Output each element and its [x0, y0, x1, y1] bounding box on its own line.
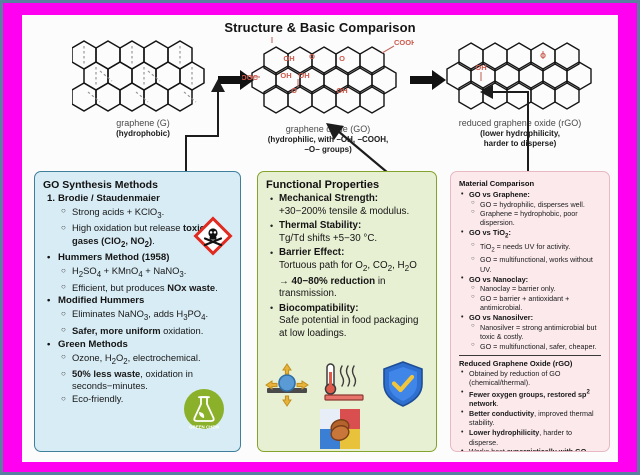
list-marker: ○	[471, 284, 475, 293]
rgo-section-heading: Reduced Graphene Oxide (rGO)	[459, 359, 601, 368]
sub-list: ○GO = hydrophilic, disperses well. ○Grap…	[469, 200, 601, 228]
sub-list: ○Nanosilver = strong antimicrobial but t…	[469, 323, 601, 351]
barrier-permeation-icon	[320, 409, 360, 449]
graphene-oxide-lattice-icon: OH O O OH OH O OH COOH HOOC	[242, 35, 414, 123]
list-marker: ○	[471, 322, 475, 331]
detail-text: Eco-friendly.	[72, 393, 123, 404]
detail-text: Graphene = hydrophobic, poor dispersion.	[480, 209, 578, 227]
list-marker: ○	[61, 265, 66, 277]
detail-text: Safer, more uniform oxidation.	[72, 325, 203, 336]
section-divider	[459, 355, 601, 356]
list-item: ○H2SO4 + KMnO4 + NaNO3.	[58, 265, 232, 281]
list-marker: •	[461, 274, 463, 284]
method-label: Hummers Method (1958)	[58, 252, 169, 263]
structure-reduced-graphene-oxide: OH O reduced graphene oxide (rGO) (lower…	[430, 37, 610, 149]
list-marker: •	[270, 193, 273, 206]
detail-text: Works best synergistically with GO.	[469, 447, 588, 452]
group-label-hooc: HOOC	[242, 73, 259, 82]
list-item: ○GO = multifunctional, safer, cheaper.	[469, 342, 601, 351]
structure-graphene: graphene (G) (hydrophobic)	[58, 37, 228, 139]
sub-list: ○TiO2 = needs UV for activity. ○GO = mul…	[469, 242, 601, 274]
list-marker: ○	[471, 341, 475, 350]
list-item-go-vs-tio2: • GO vs TiO2: ○TiO2 = needs UV for activ…	[459, 228, 601, 273]
group-label-oh: OH	[475, 63, 486, 72]
list-item: •Works best synergistically with GO.	[459, 447, 601, 452]
comparison-label: GO vs TiO2:	[469, 228, 511, 237]
list-item: ○Nanoclay = barrier only.	[469, 284, 601, 293]
green-chemistry-icon: GREEN CHEM	[182, 387, 226, 431]
detail-text: 50% less waste, oxidation in seconds−min…	[72, 368, 193, 391]
list-marker: ○	[61, 308, 66, 320]
structure-caption: reduced graphene oxide (rGO)	[430, 118, 610, 128]
list-marker: ○	[471, 241, 475, 250]
group-label-oh: OH	[280, 71, 291, 80]
list-item: ○Graphene = hydrophobic, poor dispersion…	[469, 209, 601, 228]
list-marker: •	[270, 302, 273, 315]
group-label-o: O	[309, 52, 315, 61]
connector-synthesis-vertical	[185, 135, 187, 171]
thermometer-heat-icon	[320, 360, 368, 408]
list-item: •Fewer oxygen groups, restored sp2 netwo…	[459, 388, 601, 408]
connector-properties-diagonal	[322, 123, 392, 175]
list-marker: •	[47, 252, 50, 264]
list-item-biocompatibility: • Biocompatibility: Safe potential in fo…	[266, 303, 428, 341]
list-marker: •	[270, 220, 273, 233]
group-label-oh: OH	[336, 86, 347, 95]
group-label-o: O	[339, 54, 345, 63]
properties-list: • Mechanical Strength: +30−200% tensile …	[266, 193, 428, 340]
list-item: •Obtained by reduction of GO (chemical/t…	[459, 369, 601, 388]
poster-canvas: Structure & Basic Comparison	[22, 15, 618, 462]
list-marker: ○	[471, 293, 475, 302]
connector-comparison-horizontal	[492, 91, 529, 93]
tensile-strength-icon	[264, 362, 310, 408]
list-marker: •	[461, 447, 463, 452]
comparison-label: GO vs Graphene:	[469, 190, 530, 199]
list-marker: •	[461, 368, 463, 377]
panel-heading: Material Comparison	[459, 179, 601, 188]
poster-frame: Structure & Basic Comparison	[3, 3, 637, 472]
list-marker: •	[270, 247, 273, 260]
list-item: •Lower hydrophilicity, harder to dispers…	[459, 428, 601, 447]
list-marker: ○	[471, 199, 475, 208]
detail-text: Nanosilver = strong antimicrobial but to…	[480, 323, 596, 341]
group-label-o: O	[540, 51, 546, 60]
list-item-go-vs-nanoclay: • GO vs Nanoclay: ○Nanoclay = barrier on…	[459, 275, 601, 312]
list-item: ○GO = barrier + antioxidant + antimicrob…	[469, 294, 601, 313]
list-item-hummers-method: • Hummers Method (1958) ○H2SO4 + KMnO4 +…	[43, 252, 232, 294]
property-label: Thermal Stability:	[279, 220, 361, 231]
property-detail: Tortuous path for O2, CO2, H2O → 40−80% …	[279, 260, 428, 301]
list-marker: •	[461, 313, 463, 323]
list-marker: ○	[61, 393, 66, 405]
list-item-mechanical-strength: • Mechanical Strength: +30−200% tensile …	[266, 193, 428, 218]
toxic-hazard-icon	[193, 216, 233, 256]
list-item-go-vs-nanosilver: • GO vs Nanosilver: ○Nanosilver = strong…	[459, 313, 601, 350]
comparison-list: • GO vs Graphene: ○GO = hydrophilic, dis…	[459, 190, 601, 351]
sub-list: ○H2SO4 + KMnO4 + NaNO3. ○Efficient, but …	[58, 265, 232, 294]
reduced-graphene-oxide-lattice-icon: OH O	[445, 37, 595, 117]
list-marker: ○	[61, 351, 66, 363]
panel-go-synthesis-methods[interactable]: GO Synthesis Methods 1. Brodie / Stauden…	[34, 171, 241, 452]
list-marker: •	[47, 295, 50, 307]
detail-text: Strong acids + KClO3.	[72, 206, 164, 217]
comparison-label: GO vs Nanosilver:	[469, 313, 533, 322]
property-detail: Safe potential in food packaging at low …	[279, 315, 428, 340]
property-label: Mechanical Strength:	[279, 193, 378, 204]
sub-list: ○Nanoclay = barrier only. ○GO = barrier …	[469, 284, 601, 312]
detail-text: Nanoclay = barrier only.	[480, 284, 556, 293]
list-item-barrier-effect: • Barrier Effect: Tortuous path for O2, …	[266, 247, 428, 300]
detail-text: TiO2 = needs UV for activity.	[480, 242, 570, 251]
group-label-cooh: COOH	[394, 38, 414, 47]
detail-text: Eliminates NaNO3, adds H3PO4.	[72, 308, 208, 319]
structure-subcaption: (lower hydrophilicity, harder to dispers…	[430, 129, 610, 149]
list-item: ○Ozone, H2O2, electrochemical.	[58, 352, 232, 368]
structure-subcaption: (hydrophobic)	[58, 129, 228, 139]
property-detail: +30−200% tensile & modulus.	[279, 206, 428, 219]
method-label: Modified Hummers	[58, 295, 144, 306]
detail-text: GO = hydrophilic, disperses well.	[480, 200, 585, 209]
detail-text: Better conductivity, improved thermal st…	[469, 409, 594, 427]
method-label: Green Methods	[58, 339, 128, 350]
list-marker: •	[461, 408, 463, 417]
list-marker: ○	[61, 222, 66, 234]
property-label: Barrier Effect:	[279, 247, 344, 258]
list-item-thermal-stability: • Thermal Stability: Tg/Td shifts +5−30 …	[266, 220, 428, 245]
list-item-modified-hummers: • Modified Hummers ○Eliminates NaNO3, ad…	[43, 295, 232, 337]
panel-functional-properties[interactable]: Functional Properties • Mechanical Stren…	[257, 171, 437, 452]
list-marker: ○	[61, 368, 66, 380]
detail-text: Ozone, H2O2, electrochemical.	[72, 352, 201, 363]
sub-list: ○Eliminates NaNO3, adds H3PO4. ○Safer, m…	[58, 308, 232, 337]
connector-comparison-vertical	[527, 91, 529, 171]
property-detail: Tg/Td shifts +5−30 °C.	[279, 233, 428, 246]
graphene-lattice-icon	[72, 37, 214, 117]
group-label-oh: OH	[298, 71, 309, 80]
detail-text: H2SO4 + KMnO4 + NaNO3.	[72, 265, 186, 276]
panel-heading: Functional Properties	[266, 179, 428, 191]
shield-check-icon	[380, 360, 426, 408]
group-label-o: O	[291, 86, 297, 95]
svg-text:GREEN CHEM: GREEN CHEM	[189, 424, 219, 429]
list-item-go-vs-graphene: • GO vs Graphene: ○GO = hydrophilic, dis…	[459, 190, 601, 227]
panel-heading: GO Synthesis Methods	[43, 179, 232, 191]
list-marker: •	[461, 428, 463, 437]
list-marker: ○	[471, 208, 475, 217]
list-item: ○Efficient, but produces NOx waste.	[58, 282, 232, 294]
detail-text: GO = multifunctional, works without UV.	[480, 255, 593, 273]
rgo-list: •Obtained by reduction of GO (chemical/t…	[459, 369, 601, 452]
comparison-label: GO vs Nanoclay:	[469, 275, 528, 284]
detail-text: Efficient, but produces NOx waste.	[72, 282, 218, 293]
list-marker: ○	[61, 205, 66, 217]
detail-text: Lower hydrophilicity, harder to disperse…	[469, 428, 572, 446]
list-marker: ○	[471, 255, 475, 264]
list-marker: ○	[61, 281, 66, 293]
list-item: ○Eliminates NaNO3, adds H3PO4.	[58, 308, 232, 324]
connector-comparison-arrowhead	[480, 85, 493, 99]
list-item: ○Safer, more uniform oxidation.	[58, 325, 232, 337]
property-label: Biocompatibility:	[279, 303, 358, 314]
group-label-oh: OH	[283, 54, 294, 63]
list-marker: 1.	[47, 193, 55, 205]
method-label: Brodie / Staudenmaier	[58, 193, 160, 204]
structure-caption: graphene (G)	[58, 118, 228, 128]
detail-text: High oxidation but release toxic gases (…	[72, 222, 205, 245]
detail-text: GO = barrier + antioxidant + antimicrobi…	[480, 294, 569, 312]
detail-text: Fewer oxygen groups, restored sp2 networ…	[469, 390, 590, 408]
list-item: ○Nanosilver = strong antimicrobial but t…	[469, 323, 601, 342]
detail-text: Obtained by reduction of GO (chemical/th…	[469, 369, 561, 387]
list-marker: •	[47, 339, 50, 351]
connector-synthesis-arrowhead	[211, 79, 225, 92]
list-marker: •	[461, 388, 463, 397]
page-title: Structure & Basic Comparison	[22, 20, 618, 35]
connector-synthesis-horizontal	[185, 135, 219, 137]
structure-subcaption-line2: harder to disperse)	[484, 139, 556, 148]
list-marker: ○	[61, 324, 66, 336]
list-item: •Better conductivity, improved thermal s…	[459, 409, 601, 428]
detail-text: GO = multifunctional, safer, cheaper.	[480, 342, 596, 351]
structure-subcaption-line1: (lower hydrophilicity,	[480, 129, 560, 138]
list-marker: •	[461, 190, 463, 200]
list-item: ○GO = multifunctional, works without UV.	[469, 255, 601, 274]
panel-material-comparison[interactable]: Material Comparison • GO vs Graphene: ○G…	[450, 171, 610, 452]
list-item: ○TiO2 = needs UV for activity.	[469, 242, 601, 256]
connector-synthesis-riser	[217, 91, 219, 137]
list-marker: •	[461, 228, 463, 238]
list-item: ○GO = hydrophilic, disperses well.	[469, 200, 601, 209]
